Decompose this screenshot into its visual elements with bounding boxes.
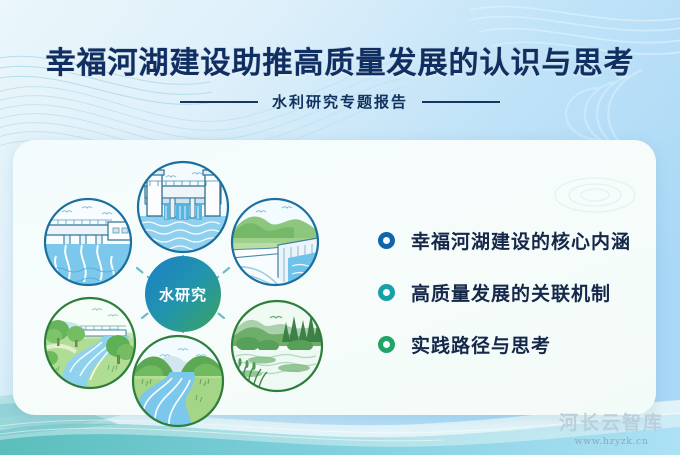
watermark: 河长云智库 www.hzyzk.cn bbox=[559, 408, 664, 447]
bullet-ring-icon bbox=[378, 336, 395, 353]
bullet-label: 实践路径与思考 bbox=[411, 331, 551, 358]
watermark-name: 河长云智库 bbox=[559, 408, 664, 435]
header: 幸福河湖建设助推高质量发展的认识与思考 水利研究专题报告 bbox=[0, 0, 680, 140]
page-subtitle: 水利研究专题报告 bbox=[272, 91, 408, 112]
node-dam-gate bbox=[138, 162, 228, 252]
bullet-label: 幸福河湖建设的核心内涵 bbox=[411, 227, 631, 254]
node-lake-wetland bbox=[231, 301, 322, 391]
bullet-item-2[interactable]: 高质量发展的关联机制 bbox=[378, 266, 631, 318]
diagram-hub: 水研究 bbox=[145, 256, 221, 332]
node-winding-river bbox=[133, 336, 223, 426]
node-riverside-park bbox=[42, 298, 135, 388]
subtitle-rule-left bbox=[180, 101, 258, 103]
bullet-list: 幸福河湖建设的核心内涵 高质量发展的关联机制 实践路径与思考 bbox=[378, 214, 631, 370]
water-research-diagram: 水研究 bbox=[20, 143, 360, 443]
bullet-ring-icon bbox=[378, 232, 395, 249]
watermark-url: www.hzyzk.cn bbox=[559, 436, 664, 447]
bullet-label: 高质量发展的关联机制 bbox=[411, 279, 611, 306]
node-dam-discharge bbox=[45, 199, 132, 290]
bullet-ring-icon bbox=[378, 284, 395, 301]
page-title: 幸福河湖建设助推高质量发展的认识与思考 bbox=[0, 38, 680, 82]
hub-label: 水研究 bbox=[159, 286, 207, 304]
bullet-item-1[interactable]: 幸福河湖建设的核心内涵 bbox=[378, 214, 631, 266]
bullet-item-3[interactable]: 实践路径与思考 bbox=[378, 318, 631, 370]
subtitle-rule-right bbox=[422, 101, 500, 103]
subtitle-group: 水利研究专题报告 bbox=[0, 91, 680, 112]
node-canal-embankment bbox=[232, 199, 320, 285]
